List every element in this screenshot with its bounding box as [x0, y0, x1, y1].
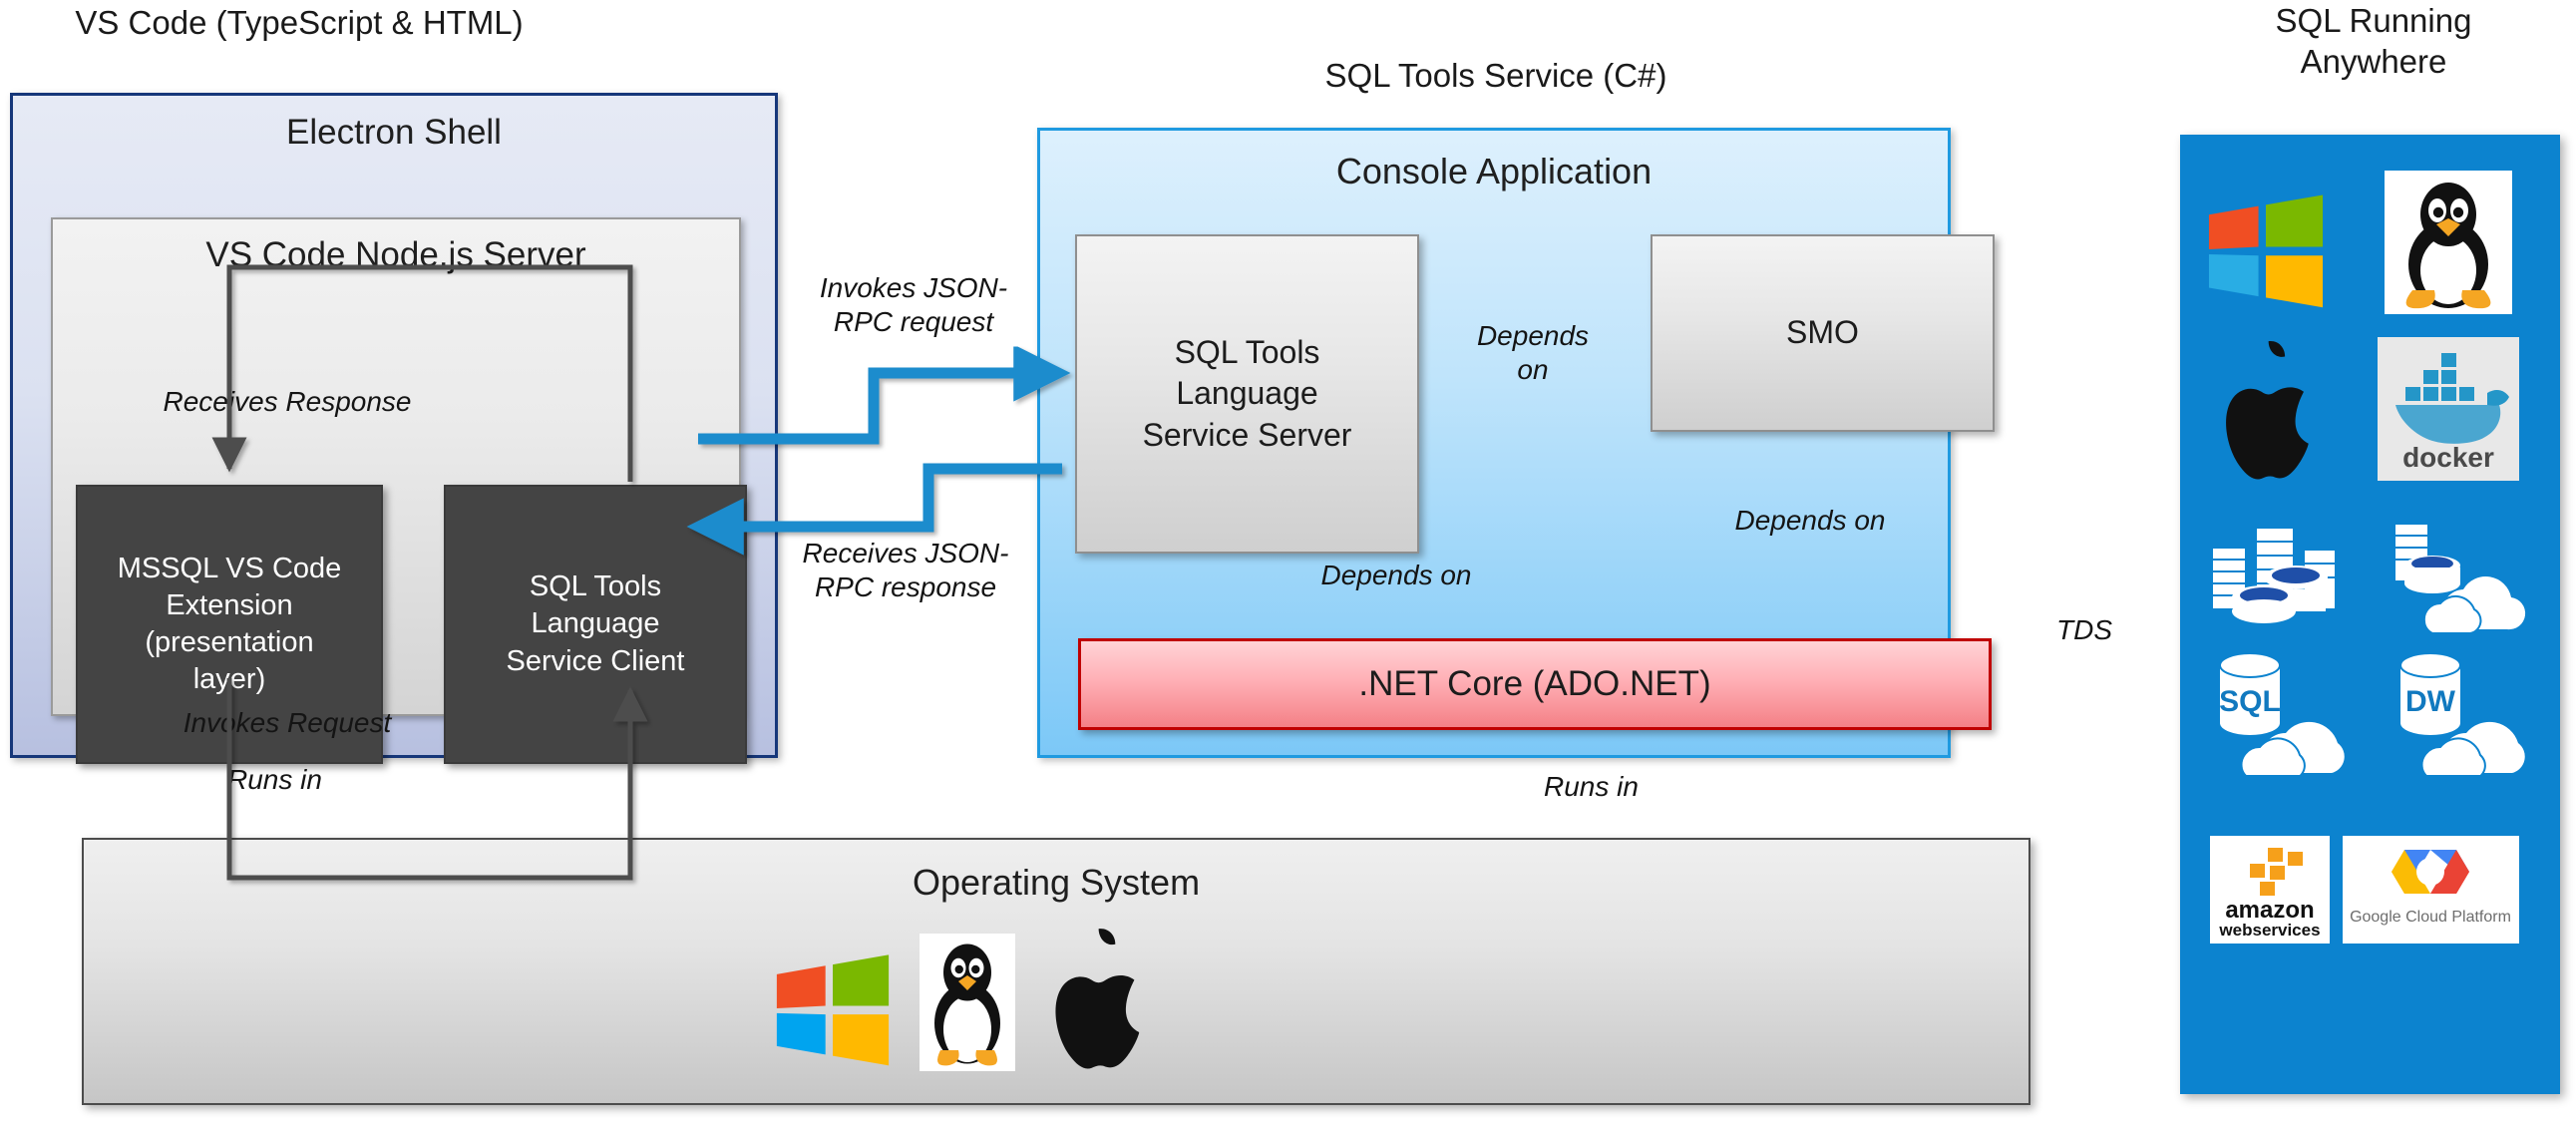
apple-logo — [1041, 928, 1161, 1075]
aws-logo-text-line1: amazon — [2225, 897, 2314, 924]
operating-system-container: Operating System — [82, 838, 2030, 1105]
azure-sql-dw-label: DW — [2405, 685, 2456, 718]
edge-label-runs-in-left: Runs in — [227, 763, 387, 797]
console-application-title: Console Application — [1040, 151, 1948, 192]
sql-tools-language-service-client-node[interactable]: SQL Tools Language Service Client — [444, 485, 747, 764]
amazon-web-services-logo: amazon webservices — [2210, 836, 2330, 944]
apple-logo — [2212, 340, 2330, 486]
linux-tux-logo — [920, 934, 1015, 1071]
dotnet-core-adonet-node[interactable]: .NET Core (ADO.NET) — [1078, 638, 1992, 730]
edge-label-receives-json-rpc-response: Receives JSON- RPC response — [788, 537, 1023, 604]
caption-sql-tools-service: SQL Tools Service (C#) — [1077, 55, 1915, 96]
smo-node[interactable]: SMO — [1651, 234, 1995, 432]
docker-logo-text: docker — [2402, 442, 2494, 473]
azure-sql-database-label: SQL — [2219, 685, 2281, 718]
edge-label-depends-on-smo: Depends on — [1428, 319, 1638, 387]
aws-logo-text-line2: webservices — [2218, 921, 2320, 940]
vscode-nodejs-server-title: VS Code Node.js Server — [53, 235, 739, 275]
sql-tools-language-service-server-node[interactable]: SQL Tools Language Service Server — [1075, 234, 1419, 554]
caption-sql-running-anywhere: SQL Running Anywhere — [2194, 0, 2553, 83]
sql-running-anywhere-panel: docker — [2180, 135, 2560, 1094]
google-cloud-platform-logo: Google Cloud Platform — [2343, 836, 2519, 944]
caption-vs-code: VS Code (TypeScript & HTML) — [10, 2, 588, 43]
windows-logo — [2204, 188, 2328, 311]
gcp-logo-text: Google Cloud Platform — [2350, 909, 2511, 926]
edge-label-depends-on-dotnet-left: Depends on — [1282, 559, 1511, 592]
edge-label-depends-on-dotnet-right: Depends on — [1695, 504, 1925, 538]
edge-label-runs-in-right: Runs in — [1544, 770, 1703, 804]
linux-tux-logo — [2385, 171, 2512, 314]
edge-label-receives-response: Receives Response — [123, 385, 452, 419]
on-premises-datacenter-icon — [2204, 514, 2354, 633]
architecture-diagram: VS Code (TypeScript & HTML) SQL Tools Se… — [0, 0, 2576, 1134]
docker-logo: docker — [2378, 337, 2519, 481]
operating-system-title: Operating System — [84, 862, 2028, 904]
windows-logo — [772, 947, 894, 1069]
electron-shell-container: Electron Shell VS Code Node.js Server MS… — [10, 93, 778, 758]
electron-shell-title: Electron Shell — [13, 113, 775, 153]
private-cloud-database-icon — [2385, 518, 2534, 633]
edge-label-invokes-request: Invokes Request — [133, 706, 442, 740]
edge-label-tds: TDS — [2024, 613, 2144, 647]
edge-label-invokes-json-rpc-request: Invokes JSON- RPC request — [798, 271, 1029, 339]
azure-sql-database-icon: SQL — [2202, 645, 2362, 775]
azure-sql-data-warehouse-icon: DW — [2383, 645, 2542, 775]
